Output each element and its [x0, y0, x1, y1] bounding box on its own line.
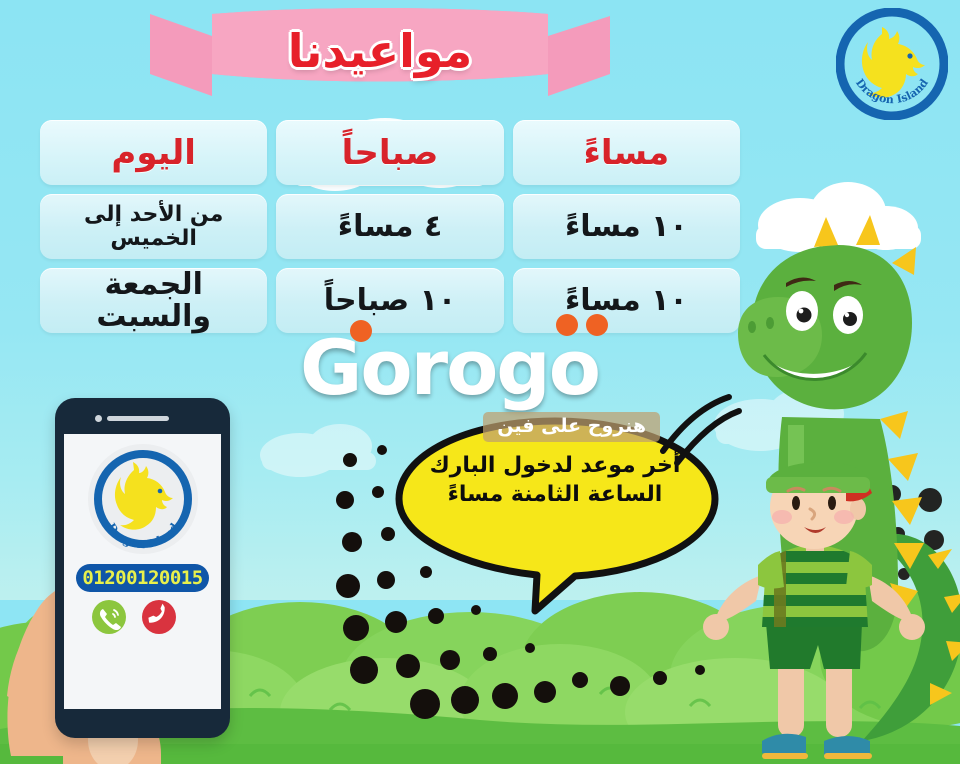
- header-label-evening: مساءً: [583, 136, 669, 170]
- cell-morning-row1: ٤ مساءً: [276, 194, 503, 259]
- cell-day-row1: من الأحد إلى الخميس: [40, 194, 267, 259]
- title-ribbon: مواعيدنا: [150, 8, 610, 108]
- phone-camera-icon: [95, 415, 102, 422]
- watermark-dot: [586, 314, 608, 336]
- header-label-morning: صباحاً: [342, 136, 439, 170]
- cell-evening-row1: ١٠ مساءً: [513, 194, 740, 259]
- brand-logo-top-right: Dragon Island: [836, 8, 948, 120]
- decline-call-button[interactable]: [142, 600, 176, 634]
- day-value-row1: من الأحد إلى الخميس: [48, 203, 259, 249]
- watermark-brand: Gorogo: [300, 330, 660, 406]
- evening-value-row2: ١٠ مساءً: [565, 285, 688, 317]
- header-cell-evening: مساءً: [513, 120, 740, 185]
- header-label-day: اليوم: [111, 136, 196, 170]
- poster-canvas: Dragon Island مواعيدنا مساءً صباحاً اليو…: [0, 0, 960, 764]
- phone-hangup-icon: [146, 604, 169, 627]
- dragon-icon: [115, 462, 173, 530]
- table-header-row: مساءً صباحاً اليوم: [40, 120, 740, 185]
- phone-body: Dragon Island 01200120015: [55, 398, 230, 738]
- table-row: ١٠ مساءً ٤ مساءً من الأحد إلى الخميس: [40, 194, 740, 259]
- phone-screen[interactable]: Dragon Island 01200120015: [64, 434, 221, 709]
- phone-number-badge[interactable]: 01200120015: [76, 564, 209, 592]
- phone-speaker: [107, 416, 169, 421]
- phone-brand-logo: Dragon Island: [88, 444, 198, 554]
- watermark-dot: [350, 320, 372, 342]
- header-cell-day: اليوم: [40, 120, 267, 185]
- evening-value-row1: ١٠ مساءً: [565, 211, 688, 243]
- accept-call-button[interactable]: [92, 600, 126, 634]
- watermark: Gorogo هنروح على فين: [300, 330, 660, 450]
- header-cell-morning: صباحاً: [276, 120, 503, 185]
- morning-value-row2: ١٠ صباحاً: [324, 285, 456, 317]
- day-value-row2: الجمعة والسبت: [48, 269, 259, 332]
- morning-value-row1: ٤ مساءً: [338, 211, 442, 243]
- bubble-line-2: الساعة الثامنة مساءً: [405, 480, 705, 509]
- boy-character: [700, 455, 930, 764]
- phone-in-hand: Dragon Island 01200120015: [55, 398, 230, 764]
- watermark-dot: [556, 314, 578, 336]
- schedule-table: مساءً صباحاً اليوم ١٠ مساءً ٤ مساءً من ا…: [40, 120, 740, 333]
- cell-day-row2: الجمعة والسبت: [40, 268, 267, 333]
- watermark-tagline: هنروح على فين: [483, 412, 660, 442]
